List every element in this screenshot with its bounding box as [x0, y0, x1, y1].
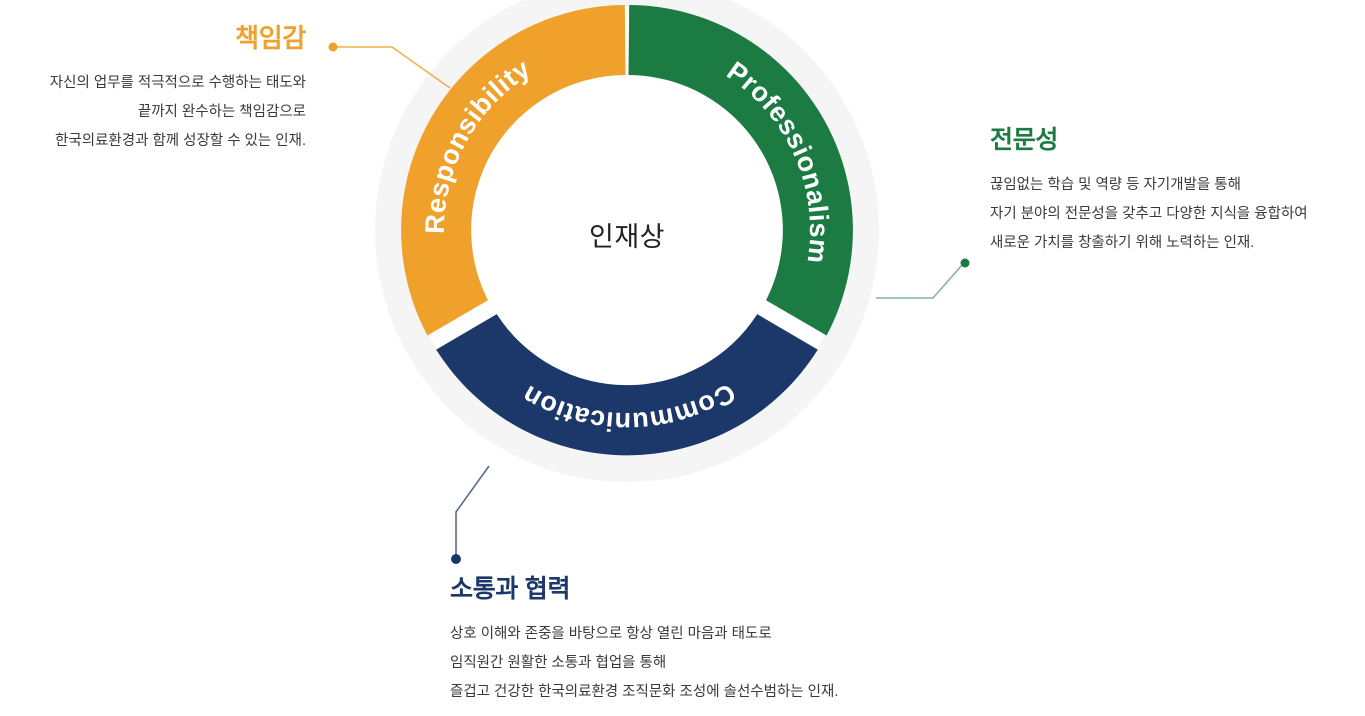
callout-line: 자신의 업무를 적극적으로 수행하는 태도와	[0, 69, 306, 98]
connector-dot-responsibility	[329, 43, 338, 52]
callout-title-communication: 소통과 협력	[450, 576, 1010, 604]
callout-line: 임직원간 원활한 소통과 협업을 통해	[450, 649, 1010, 678]
infographic-stage: Professionalism Communication Responsibi…	[0, 0, 1365, 716]
connector-dot-communication	[451, 554, 461, 564]
callout-line: 끝까지 완수하는 책임감으로	[0, 98, 306, 127]
callout-title-professionalism: 전문성	[990, 127, 1365, 155]
callout-body-communication: 상호 이해와 존중을 바탕으로 항상 열린 마음과 태도로 임직원간 원활한 소…	[450, 620, 1010, 707]
callout-body-responsibility: 자신의 업무를 적극적으로 수행하는 태도와 끝까지 완수하는 책임감으로 한국…	[0, 69, 306, 156]
callout-line: 상호 이해와 존중을 바탕으로 항상 열린 마음과 태도로	[450, 620, 1010, 649]
callout-line: 한국의료환경과 함께 성장할 수 있는 인재.	[0, 127, 306, 156]
callout-body-professionalism: 끊임없는 학습 및 역량 등 자기개발을 통해 자기 분야의 전문성을 갖추고 …	[990, 171, 1365, 258]
callout-professionalism: 전문성 끊임없는 학습 및 역량 등 자기개발을 통해 자기 분야의 전문성을 …	[990, 127, 1365, 258]
callout-line: 즐겁고 건강한 한국의료환경 조직문화 조성에 솔선수범하는 인재.	[450, 678, 1010, 707]
connector-dot-professionalism	[961, 259, 970, 268]
callout-line: 새로운 가치를 창출하기 위해 노력하는 인재.	[990, 229, 1365, 258]
callout-line: 끊임없는 학습 및 역량 등 자기개발을 통해	[990, 171, 1365, 200]
callout-line: 자기 분야의 전문성을 갖추고 다양한 지식을 융합하여	[990, 200, 1365, 229]
connector-professionalism	[876, 264, 963, 298]
callout-responsibility: 책임감 자신의 업무를 적극적으로 수행하는 태도와 끝까지 완수하는 책임감으…	[0, 24, 306, 156]
callout-title-responsibility: 책임감	[0, 24, 306, 53]
donut-center-label: 인재상	[507, 215, 747, 254]
callout-communication: 소통과 협력 상호 이해와 존중을 바탕으로 항상 열린 마음과 태도로 임직원…	[450, 576, 1010, 707]
